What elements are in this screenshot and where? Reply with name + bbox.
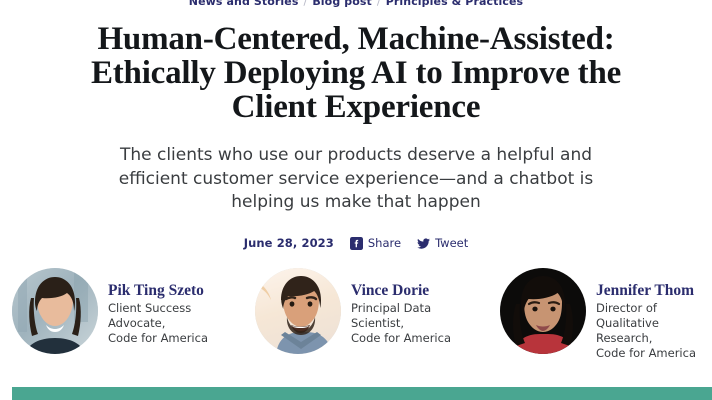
author-role-line: Code for America	[351, 331, 486, 346]
breadcrumb-item-principles-practices[interactable]: Principles & Practices	[386, 0, 523, 8]
author-name: Vince Dorie	[351, 282, 486, 299]
author-list: Pik Ting Szeto Client Success Advocate, …	[0, 268, 712, 361]
author-card: Jennifer Thom Director of Qualitative Re…	[500, 268, 712, 361]
facebook-icon	[350, 237, 363, 250]
author-info: Jennifer Thom Director of Qualitative Re…	[596, 268, 712, 361]
breadcrumb: News and Stories/Blog post/Principles & …	[0, 0, 712, 10]
article-meta-row: June 28, 2023 Share Tweet	[0, 236, 712, 250]
twitter-icon	[417, 237, 430, 250]
author-role-line: Research,	[596, 331, 712, 346]
author-role-line: Principal Data Scientist,	[351, 301, 486, 331]
section-divider-band	[12, 387, 712, 400]
facebook-share-button[interactable]: Share	[350, 236, 401, 250]
avatar	[500, 268, 586, 354]
author-name: Jennifer Thom	[596, 282, 712, 299]
twitter-share-button[interactable]: Tweet	[417, 236, 468, 250]
breadcrumb-separator: /	[299, 0, 313, 10]
avatar	[12, 268, 98, 354]
breadcrumb-item-blog-post[interactable]: Blog post	[312, 0, 372, 8]
breadcrumb-item-news-and-stories[interactable]: News and Stories	[189, 0, 299, 8]
article-subtitle: The clients who use our products deserve…	[106, 144, 606, 215]
author-card: Vince Dorie Principal Data Scientist, Co…	[255, 268, 486, 354]
breadcrumb-separator: /	[372, 0, 386, 10]
author-name: Pik Ting Szeto	[108, 282, 243, 299]
author-role-line: Code for America	[596, 346, 712, 361]
facebook-share-label: Share	[368, 236, 401, 250]
author-info: Vince Dorie Principal Data Scientist, Co…	[351, 268, 486, 346]
publish-date: June 28, 2023	[244, 236, 334, 250]
twitter-share-label: Tweet	[435, 236, 468, 250]
author-role-line: Code for America	[108, 331, 243, 346]
author-info: Pik Ting Szeto Client Success Advocate, …	[108, 268, 243, 346]
article-header-page: News and Stories/Blog post/Principles & …	[0, 0, 712, 400]
page-title: Human-Centered, Machine-Assisted: Ethica…	[56, 22, 656, 124]
author-role-line: Client Success Advocate,	[108, 301, 243, 331]
author-role-line: Director of Qualitative	[596, 301, 712, 331]
author-card: Pik Ting Szeto Client Success Advocate, …	[12, 268, 243, 354]
avatar	[255, 268, 341, 354]
